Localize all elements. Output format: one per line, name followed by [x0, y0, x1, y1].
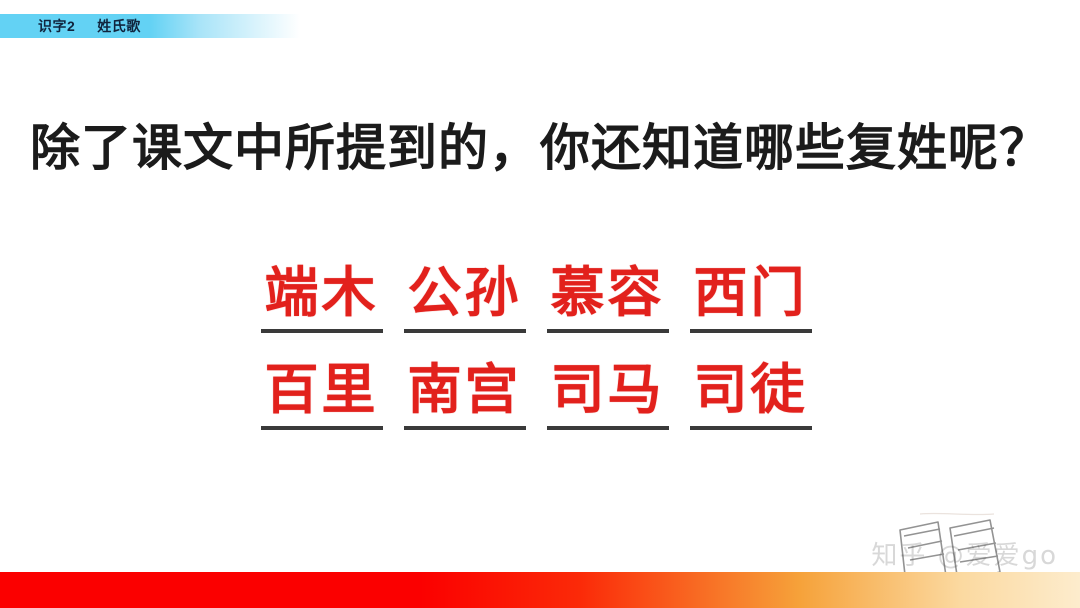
- surname-word: 公孙: [408, 258, 522, 327]
- surname-word: 司徒: [694, 355, 808, 424]
- surname-cell[interactable]: 司马: [536, 355, 679, 430]
- surname-cell[interactable]: 公孙: [393, 258, 536, 333]
- surname-word: 慕容: [551, 258, 665, 327]
- zhihu-watermark: 知乎 @爱爱go: [871, 535, 1058, 572]
- surname-cell[interactable]: 南宫: [393, 355, 536, 430]
- surname-word: 司马: [551, 355, 665, 424]
- surname-word: 端木: [265, 258, 379, 327]
- footer-gradient-bar: [0, 572, 1080, 608]
- surname-cell[interactable]: 司徒: [679, 355, 822, 430]
- surname-word: 西门: [694, 258, 808, 327]
- surname-cell[interactable]: 端木: [250, 258, 393, 333]
- header-lesson-title: 姓氏歌: [97, 16, 141, 36]
- header-lesson-label: 识字2: [38, 16, 75, 36]
- surname-underline: [261, 426, 383, 430]
- surname-row: 端木 公孙 慕容 西门: [250, 258, 850, 333]
- surname-underline: [547, 329, 669, 333]
- header-breadcrumb: 识字2 姓氏歌: [0, 14, 141, 38]
- surname-underline: [690, 329, 812, 333]
- surname-underline: [547, 426, 669, 430]
- surname-underline: [404, 329, 526, 333]
- surname-word: 百里: [265, 355, 379, 424]
- surname-underline: [261, 329, 383, 333]
- surname-underline: [404, 426, 526, 430]
- question-text: 除了课文中所提到的，你还知道哪些复姓呢？: [0, 108, 1080, 180]
- surname-cell[interactable]: 西门: [679, 258, 822, 333]
- surname-cell[interactable]: 慕容: [536, 258, 679, 333]
- surname-word: 南宫: [408, 355, 522, 424]
- surname-underline: [690, 426, 812, 430]
- surname-grid: 端木 公孙 慕容 西门 百里 南宫: [250, 258, 850, 452]
- slide-canvas: 识字2 姓氏歌 除了课文中所提到的，你还知道哪些复姓呢？ 端木 公孙 慕容 西门: [0, 0, 1080, 608]
- surname-cell[interactable]: 百里: [250, 355, 393, 430]
- surname-row: 百里 南宫 司马 司徒: [250, 355, 850, 430]
